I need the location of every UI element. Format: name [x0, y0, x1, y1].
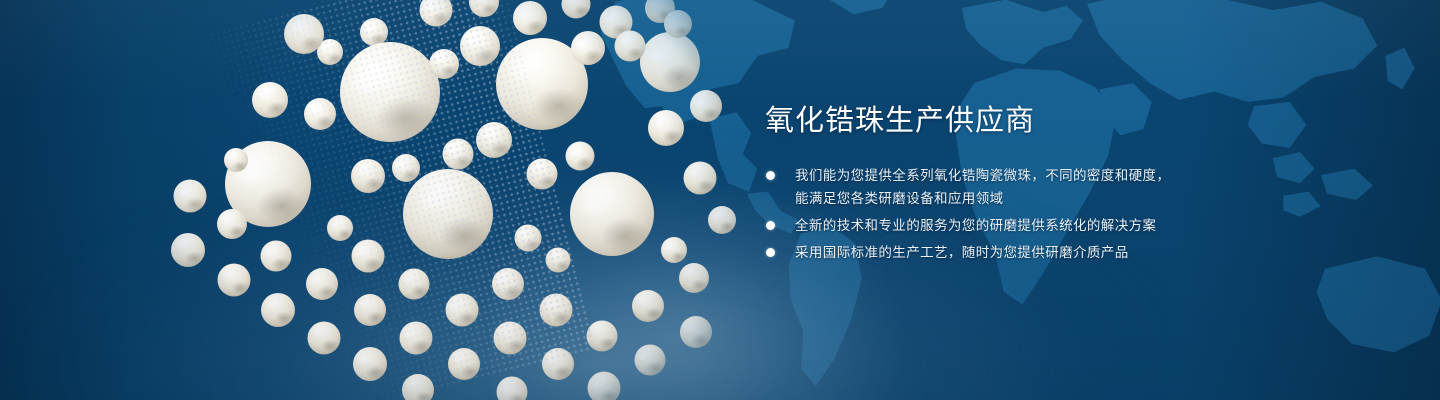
- banner-copy: 氧化锆珠生产供应商 我们能为您提供全系列氧化锆陶瓷微珠，不同的密度和硬度， 能满…: [765, 106, 1365, 268]
- bullet-dot-icon: [766, 221, 775, 230]
- bullet-line: 采用国际标准的生产工艺，随时为您提供研磨介质产品: [795, 241, 1365, 264]
- list-item: 采用国际标准的生产工艺，随时为您提供研磨介质产品: [765, 241, 1365, 264]
- banner-headline: 氧化锆珠生产供应商: [765, 106, 1365, 138]
- bullet-dot-icon: [766, 248, 775, 257]
- bullet-line: 我们能为您提供全系列氧化锆陶瓷微珠，不同的密度和硬度，: [795, 164, 1365, 187]
- hero-banner: 氧化锆珠生产供应商 我们能为您提供全系列氧化锆陶瓷微珠，不同的密度和硬度， 能满…: [0, 0, 1440, 400]
- bullet-line: 能满足您各类研磨设备和应用领域: [795, 187, 1365, 210]
- list-item: 我们能为您提供全系列氧化锆陶瓷微珠，不同的密度和硬度， 能满足您各类研磨设备和应…: [765, 164, 1365, 210]
- feature-bullet-list: 我们能为您提供全系列氧化锆陶瓷微珠，不同的密度和硬度， 能满足您各类研磨设备和应…: [765, 164, 1365, 264]
- bullet-line: 全新的技术和专业的服务为您的研磨提供系统化的解决方案: [795, 214, 1365, 237]
- list-item: 全新的技术和专业的服务为您的研磨提供系统化的解决方案: [765, 214, 1365, 237]
- bullet-dot-icon: [766, 171, 775, 180]
